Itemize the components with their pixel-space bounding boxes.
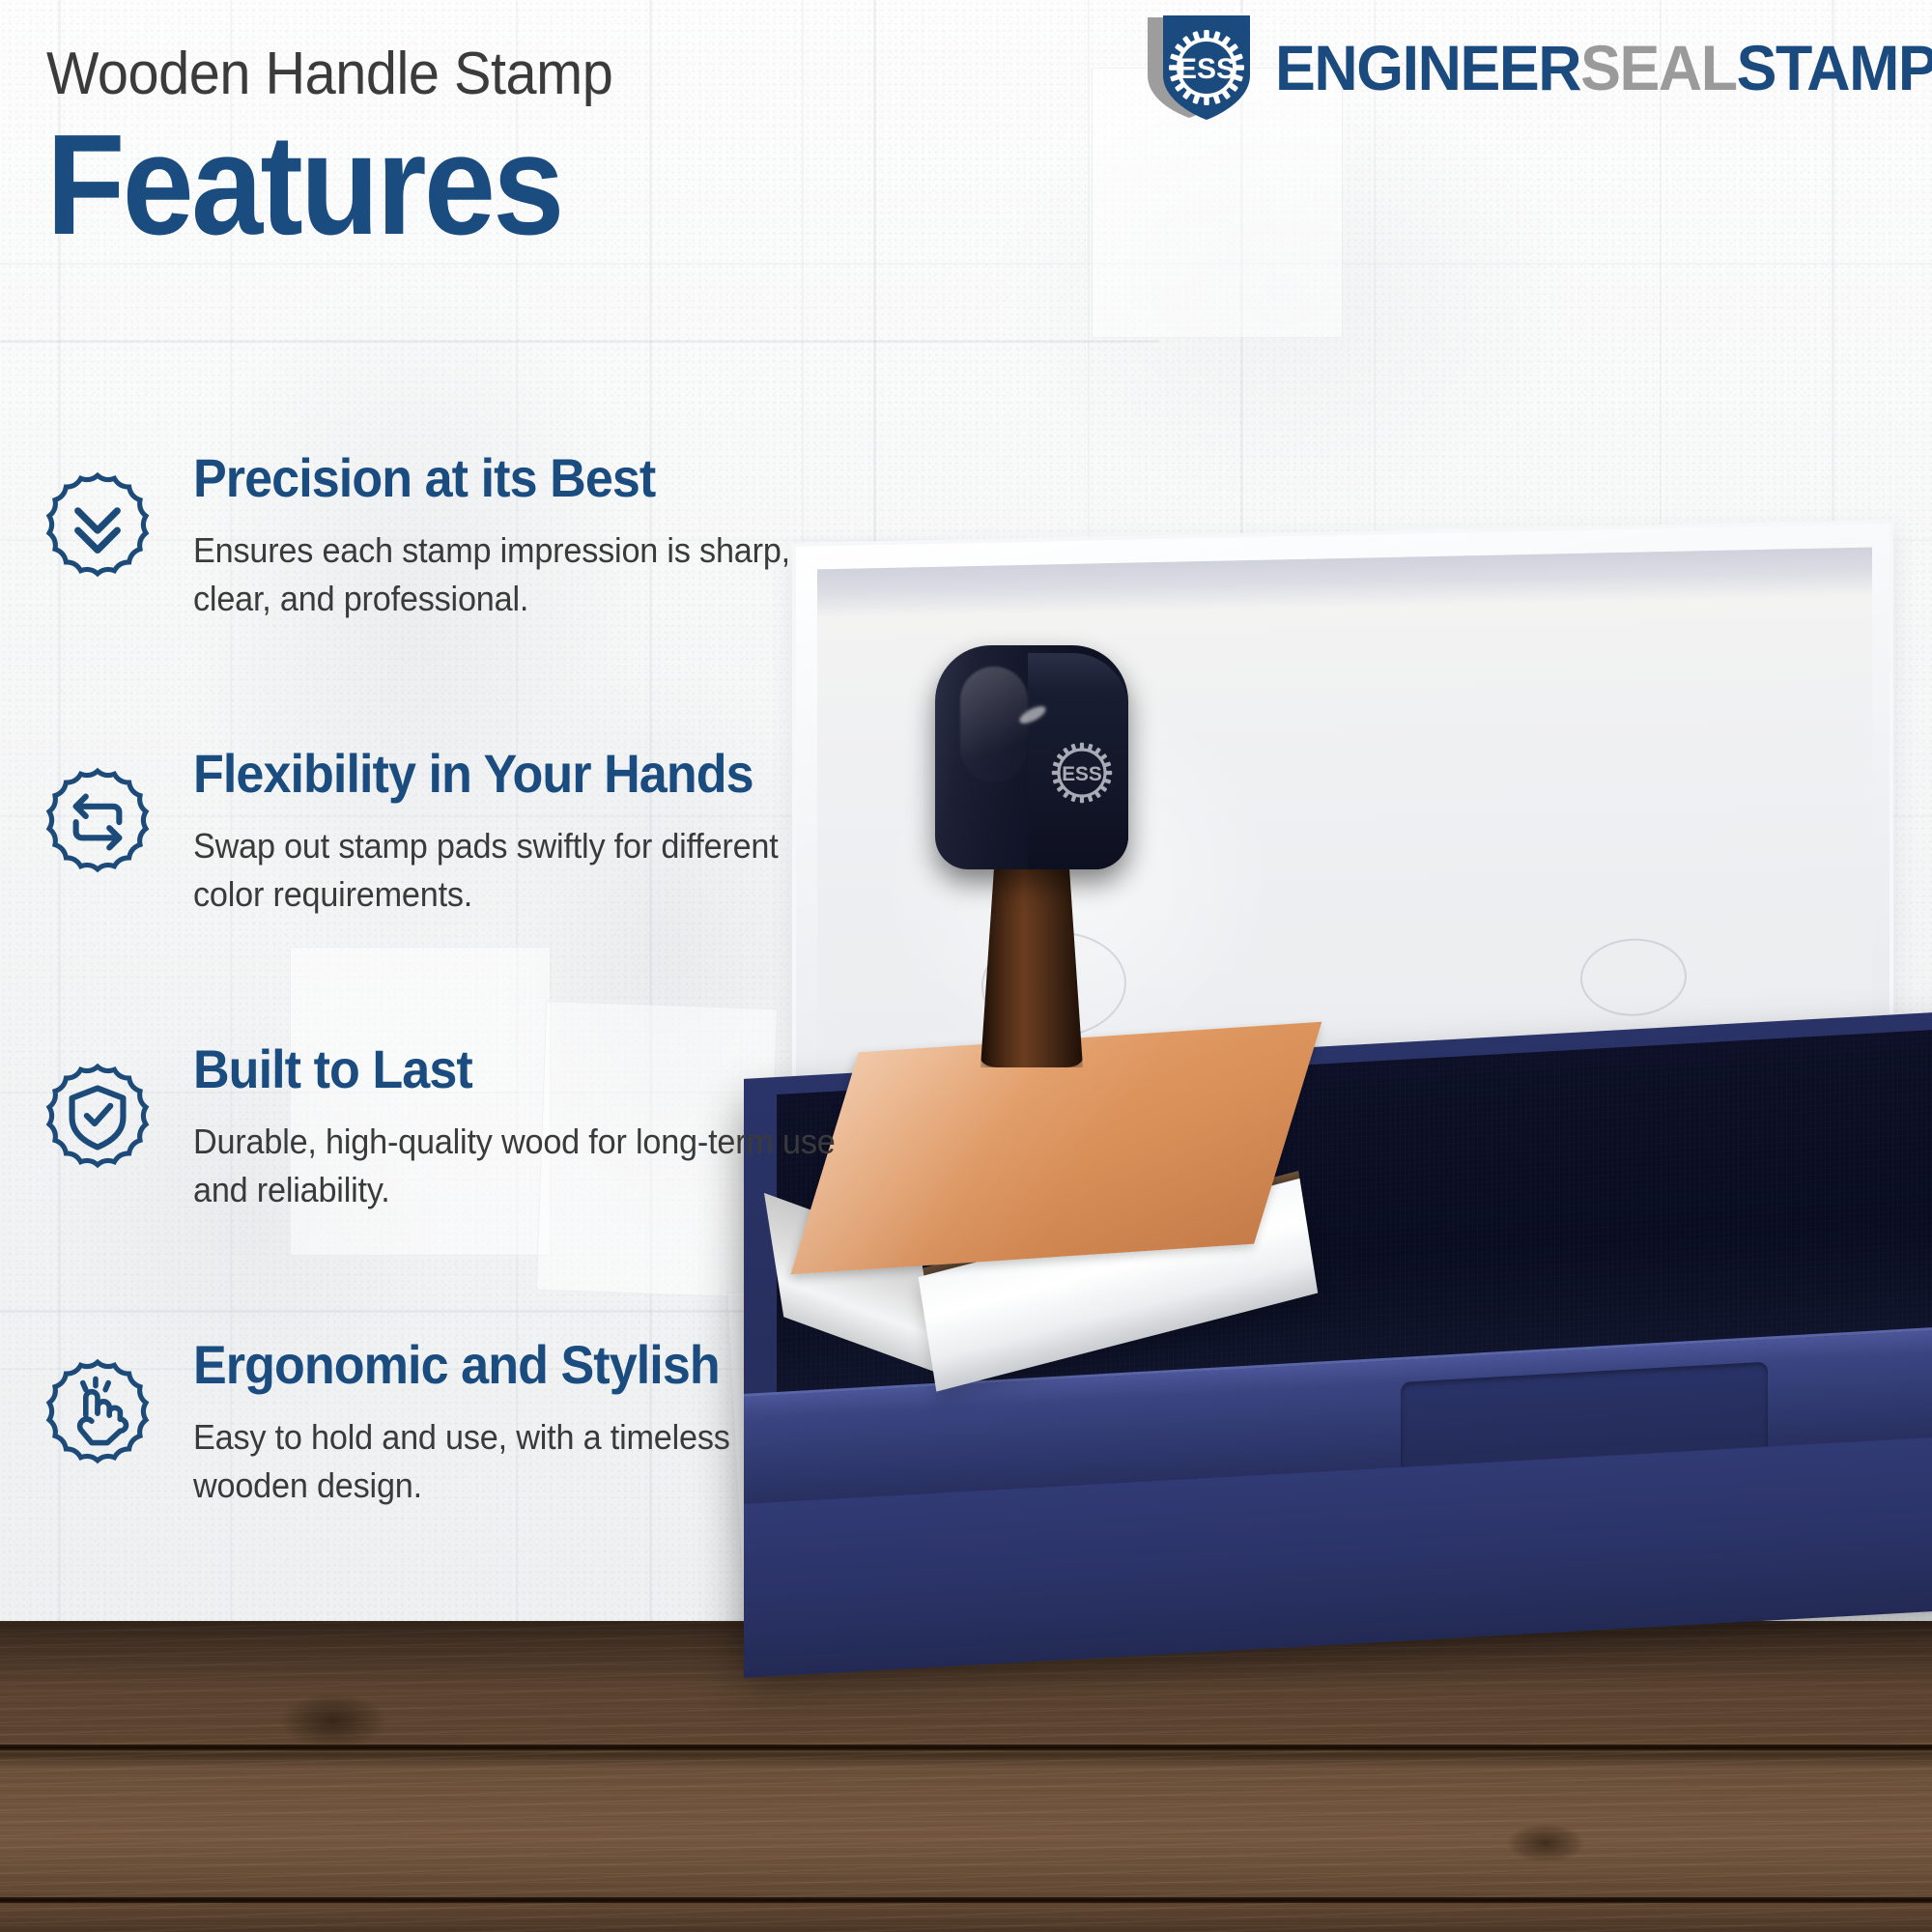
feature-item: Precision at its Best Ensures each stamp…	[39, 450, 1063, 740]
shield-logo-text: ESS	[1178, 53, 1236, 85]
product-photo: ESS	[918, 502, 1932, 1662]
feature-title: Ergonomic and Stylish	[193, 1337, 1002, 1392]
features-list: Precision at its Best Ensures each stamp…	[39, 444, 1063, 1588]
feature-item: Flexibility in Your Hands Swap out stamp…	[39, 746, 1063, 1036]
page-title: Features	[46, 110, 1003, 262]
feature-title: Built to Last	[193, 1041, 1002, 1096]
lid-emboss-circle	[1580, 938, 1687, 1017]
knob-logo-text: ESS	[1062, 763, 1102, 785]
brand-word-stamps: STAMPS	[1737, 32, 1932, 103]
desk-plank-seam	[0, 1897, 1932, 1903]
brand-word-engineer: ENGINEER	[1275, 32, 1580, 103]
brand-wordmark: ENGINEERSEALSTAMPS	[1275, 36, 1932, 99]
page-subtitle: Wooden Handle Stamp	[46, 44, 1035, 104]
feature-title: Flexibility in Your Hands	[193, 746, 1002, 801]
feature-description: Ensures each stamp impression is sharp, …	[193, 526, 836, 622]
feature-title: Precision at its Best	[193, 450, 1002, 505]
badge-chevrons-down-icon	[39, 466, 156, 583]
poster-canvas: ESS Wooden Handle Stamp Features ESS ENG	[0, 0, 1932, 1932]
badge-swap-arrows-icon	[39, 761, 156, 879]
badge-tap-hand-icon	[39, 1352, 156, 1470]
page-header: Wooden Handle Stamp Features	[46, 44, 1109, 262]
background-divider-line	[0, 340, 1159, 343]
ess-shield-icon: ESS	[1142, 14, 1256, 122]
feature-description: Durable, high-quality wood for long-term…	[193, 1118, 836, 1213]
feature-item: Built to Last Durable, high-quality wood…	[39, 1041, 1063, 1331]
brand-word-seal: SEAL	[1580, 32, 1737, 103]
feature-description: Easy to hold and use, with a timeless wo…	[193, 1413, 836, 1509]
brand-logo[interactable]: ESS ENGINEERSEALSTAMPS .COM	[1142, 14, 1905, 122]
feature-description: Swap out stamp pads swiftly for differen…	[193, 822, 836, 918]
badge-shield-check-icon	[39, 1057, 156, 1175]
feature-item: Ergonomic and Stylish Easy to hold and u…	[39, 1337, 1063, 1588]
desk-knot	[1507, 1824, 1584, 1862]
